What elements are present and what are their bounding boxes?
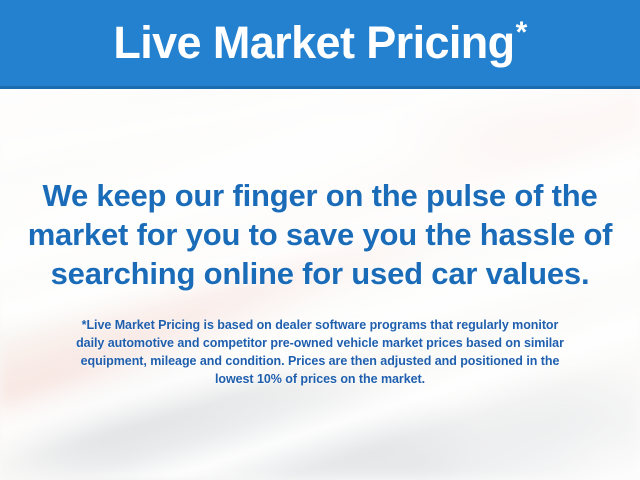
disclaimer-block: *Live Market Pricing is based on dealer … — [26, 316, 614, 388]
headline-line-2: market for you to save you the hassle of — [18, 215, 622, 254]
disclaimer-line-2: daily automotive and competitor pre-owne… — [26, 334, 614, 352]
headline-line-1: We keep our finger on the pulse of the — [18, 176, 622, 215]
headline-line-3: searching online for used car values. — [18, 254, 622, 293]
disclaimer-line-4: lowest 10% of prices on the market. — [26, 370, 614, 388]
disclaimer-line-3: equipment, mileage and condition. Prices… — [26, 352, 614, 370]
disclaimer-line-1: *Live Market Pricing is based on dealer … — [26, 316, 614, 334]
content-area: We keep our finger on the pulse of the m… — [0, 92, 640, 480]
footnote-asterisk: * — [516, 16, 527, 49]
header-banner: Live Market Pricing* — [0, 0, 640, 89]
page-title-text: Live Market Pricing — [113, 17, 514, 68]
headline-block: We keep our finger on the pulse of the m… — [18, 176, 622, 293]
page-title: Live Market Pricing* — [113, 20, 526, 67]
live-market-pricing-slide: Live Market Pricing* We keep our finger … — [0, 0, 640, 480]
